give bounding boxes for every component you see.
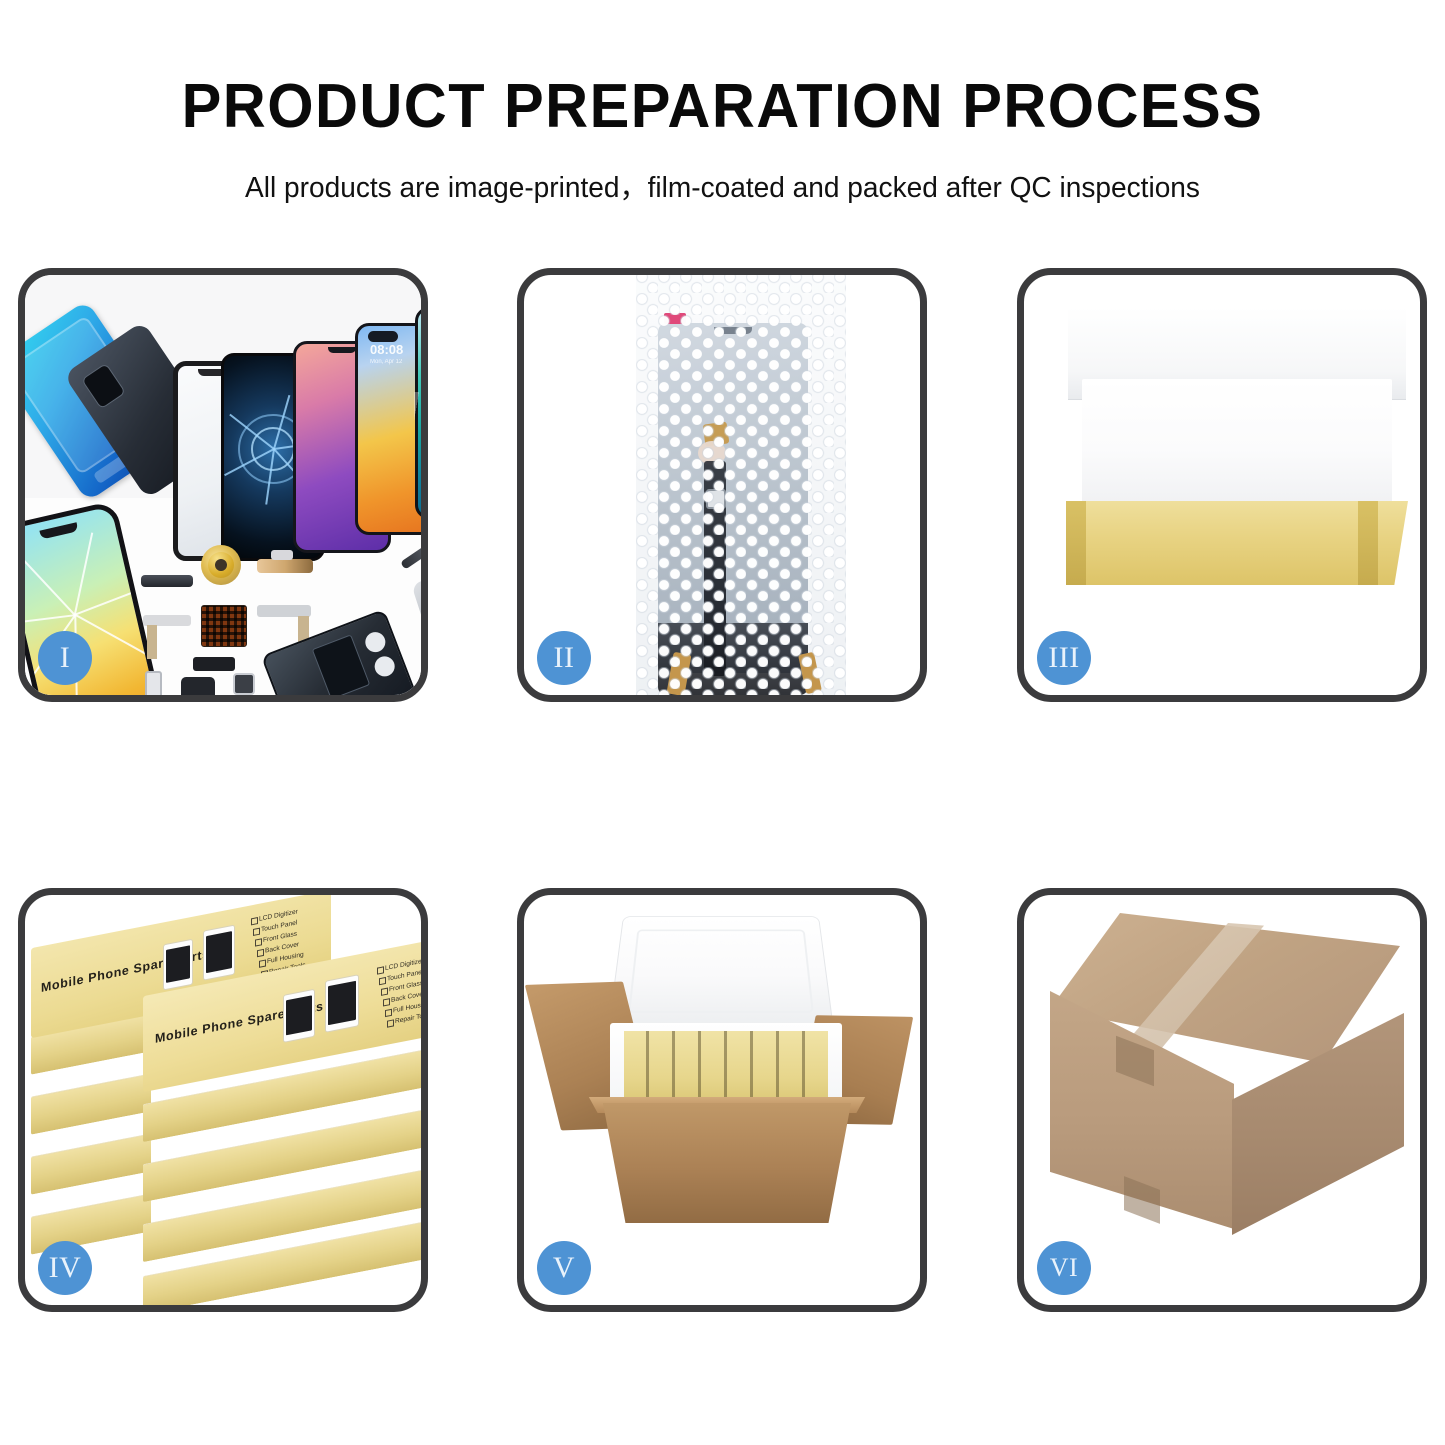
wireless-charging-coil-icon: [201, 545, 241, 585]
flex-cable-icon: [257, 559, 313, 573]
product-process-infographic: PRODUCT PREPARATION PROCESS All products…: [0, 0, 1445, 1445]
step-badge-5: V: [537, 1241, 591, 1295]
step-panel-5[interactable]: V: [517, 888, 927, 1312]
step-panel-3[interactable]: III: [1017, 268, 1427, 702]
bubble-wrap-texture: [636, 275, 846, 695]
shard-line: [74, 532, 93, 614]
step-panel-6[interactable]: VI: [1017, 888, 1427, 1312]
flex-cable-icon: [257, 605, 311, 617]
step-4-image: Mobile Phone Spare Parts LCD Digitizer T…: [25, 895, 421, 1305]
box-slab: [31, 1073, 151, 1134]
step-badge-2: II: [537, 631, 591, 685]
phone-clock-date: Mon, Apr 12: [370, 359, 402, 365]
process-step-grid: 08:08 Mon, Apr 12: [0, 0, 1445, 1445]
loudspeaker-module-icon: [181, 677, 215, 695]
step-2-image: [524, 275, 920, 695]
step-3-image: [1024, 275, 1420, 695]
box-phone-thumb: [163, 939, 193, 991]
box-phone-thumb: [283, 989, 315, 1043]
step-6-image: [1024, 895, 1420, 1305]
box-phone-thumb: [203, 925, 235, 981]
camera-module-icon: [233, 673, 255, 695]
step-badge-6: VI: [1037, 1241, 1091, 1295]
bubble-wrap-sleeve: [636, 275, 846, 695]
yellow-box-right-wall: [1358, 501, 1378, 585]
foam-cooler-lid-icon: [608, 916, 834, 1030]
step-panel-4[interactable]: Mobile Phone Spare Parts LCD Digitizer T…: [18, 888, 428, 1312]
box-slab: [31, 1133, 151, 1194]
carton-body-icon: [586, 1103, 868, 1223]
ic-chip-icon: [201, 605, 247, 647]
box-phone-thumb: [325, 974, 359, 1033]
step-5-image: [524, 895, 920, 1305]
step-panel-2[interactable]: II: [517, 268, 927, 702]
orange-gradient-phone-icon: 08:08 Mon, Apr 12: [355, 323, 421, 535]
shard-line: [25, 553, 75, 615]
phone-clock-time: 08:08: [370, 342, 403, 357]
white-foam-sheet-icon: [1082, 379, 1392, 507]
step-panel-1[interactable]: 08:08 Mon, Apr 12: [18, 268, 428, 702]
flex-cable-icon: [143, 615, 191, 626]
sim-tray-icon: [145, 671, 162, 695]
step-1-image: 08:08 Mon, Apr 12: [25, 275, 421, 695]
step-badge-4: IV: [38, 1241, 92, 1295]
step-badge-3: III: [1037, 631, 1091, 685]
vibration-motor-icon: [193, 657, 235, 671]
yellow-box-left-wall: [1066, 501, 1086, 585]
step-badge-1: I: [38, 631, 92, 685]
teal-gradient-phone-icon: [415, 307, 421, 519]
earpiece-speaker-icon: [141, 575, 193, 587]
yellow-box-front-icon: [1066, 501, 1408, 585]
